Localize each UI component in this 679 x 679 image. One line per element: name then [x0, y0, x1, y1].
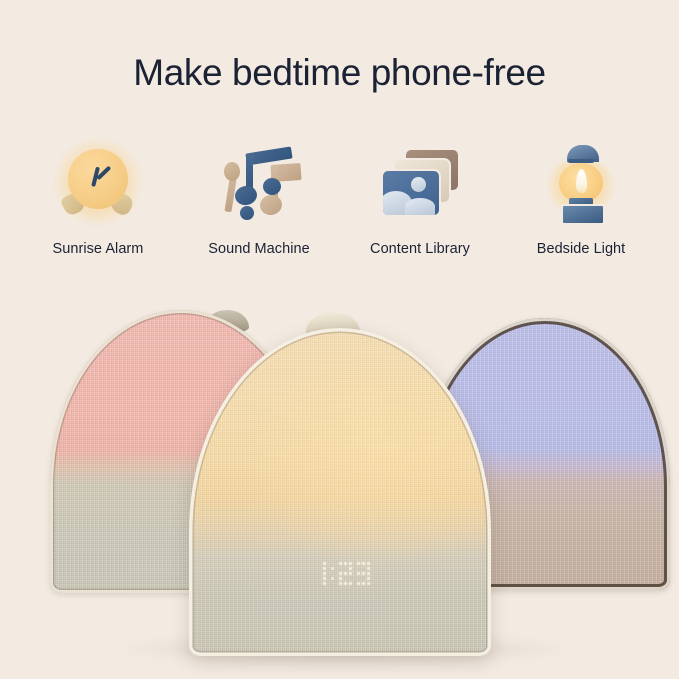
photo-sun-icon [411, 177, 426, 192]
feature-item-sound-machine: Sound Machine [179, 136, 339, 257]
feature-label: Sound Machine [208, 241, 309, 257]
clock-colon [331, 564, 334, 583]
stacked-photo-cards-icon [374, 136, 466, 228]
sunrise-alarm-clock-icon [52, 136, 144, 228]
page-title: Make bedtime phone-free [0, 52, 679, 94]
feature-label: Bedside Light [537, 241, 626, 257]
feature-list: Sunrise Alarm Sound Machine [18, 136, 661, 257]
feature-item-content-library: Content Library [340, 136, 500, 257]
clock-digit [313, 562, 326, 585]
clock-digit [357, 562, 370, 585]
note-head-blue-main [233, 184, 258, 207]
feature-item-bedside-light: Bedside Light [501, 136, 661, 257]
feature-item-sunrise-alarm: Sunrise Alarm [18, 136, 178, 257]
feature-label: Sunrise Alarm [53, 241, 144, 257]
product-showcase [0, 290, 679, 620]
note-head-tan-left [224, 162, 240, 181]
clock-display [293, 556, 389, 590]
lantern-icon [535, 136, 627, 228]
device-sunrise-alarm-amber [189, 328, 491, 656]
promotional-product-page: Make bedtime phone-free Sunrise Alarm [0, 0, 679, 679]
lantern-base [561, 204, 605, 225]
clock-digit [339, 562, 352, 585]
photo-hill-right [405, 198, 435, 215]
feature-label: Content Library [370, 241, 470, 257]
note-head-blue-mid [263, 178, 281, 195]
card-front [381, 169, 441, 217]
note-head-blue-small [240, 206, 254, 220]
music-notes-icon [213, 136, 305, 228]
note-head-tan-right [258, 193, 284, 217]
